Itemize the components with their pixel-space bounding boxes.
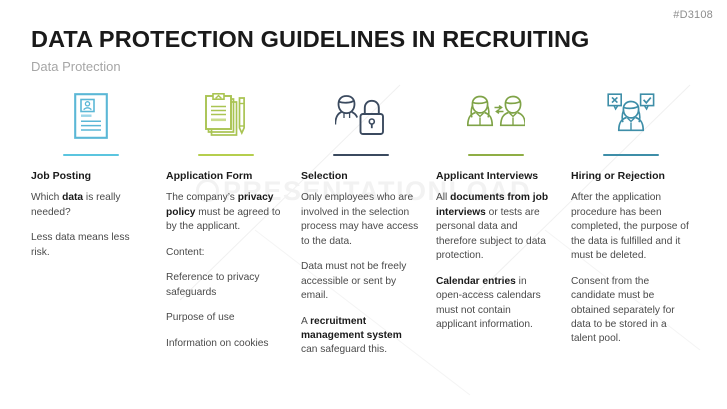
paragraph: All documents from job interviews or tes…	[436, 191, 554, 263]
paragraph: Less data means less risk.	[31, 231, 149, 260]
column-rule	[603, 154, 659, 156]
page-title: DATA PROTECTION GUIDELINES IN RECRUITING	[31, 26, 589, 53]
column-rule	[63, 154, 119, 156]
column-body: All documents from job interviews or tes…	[436, 191, 554, 332]
column-job-posting: Job Posting Which data is really needed?…	[31, 88, 166, 358]
column-body: After the application procedure has been…	[571, 191, 689, 347]
column-rule-wrap	[436, 144, 554, 166]
column-rule-wrap	[571, 144, 689, 166]
two-people-exchange-icon	[436, 88, 554, 144]
paragraph: A recruitment management system can safe…	[301, 315, 419, 358]
column-application-form: Application Form The company’s privacy p…	[166, 88, 301, 358]
column-heading: Applicant Interviews	[436, 170, 554, 183]
slide: PRESENTATIONLOAD #D3108 DATA PROTECTION …	[0, 0, 727, 409]
column-selection: Selection Only employees who are involve…	[301, 88, 436, 358]
paragraph: Content:	[166, 246, 284, 260]
column-rule	[468, 154, 524, 156]
paragraph: Purpose of use	[166, 311, 284, 325]
column-body: Which data is really needed?Less data me…	[31, 191, 149, 260]
column-body: The company’s privacy policy must be agr…	[166, 191, 284, 351]
paragraph: Calendar entries in open-access calendar…	[436, 275, 554, 333]
column-container: Job Posting Which data is really needed?…	[31, 88, 711, 358]
column-body: Only employees who are involved in the s…	[301, 191, 419, 358]
paragraph: Which data is really needed?	[31, 191, 149, 220]
column-hiring-or-rejection: Hiring or Rejection After the applicatio…	[571, 88, 706, 358]
paragraph: After the application procedure has been…	[571, 191, 689, 263]
paragraph: Only employees who are involved in the s…	[301, 191, 419, 249]
resume-document-icon	[31, 88, 149, 144]
paragraph: Reference to privacy safeguards	[166, 271, 284, 300]
clipboard-pen-icon	[166, 88, 284, 144]
paragraph: The company’s privacy policy must be agr…	[166, 191, 284, 234]
column-heading: Selection	[301, 170, 419, 183]
paragraph: Consent from the candidate must be obtai…	[571, 275, 689, 347]
column-rule	[333, 154, 389, 156]
slide-code: #D3108	[673, 9, 713, 21]
column-rule-wrap	[166, 144, 284, 166]
column-heading: Application Form	[166, 170, 284, 183]
person-approve-reject-icon	[571, 88, 689, 144]
person-padlock-icon	[301, 88, 419, 144]
column-rule-wrap	[31, 144, 149, 166]
page-subtitle: Data Protection	[31, 59, 121, 74]
column-heading: Job Posting	[31, 170, 149, 183]
column-rule-wrap	[301, 144, 419, 166]
column-rule	[198, 154, 254, 156]
column-heading: Hiring or Rejection	[571, 170, 689, 183]
paragraph: Information on cookies	[166, 337, 284, 351]
paragraph: Data must not be freely accessible or se…	[301, 260, 419, 303]
column-applicant-interviews: Applicant Interviews All documents from …	[436, 88, 571, 358]
